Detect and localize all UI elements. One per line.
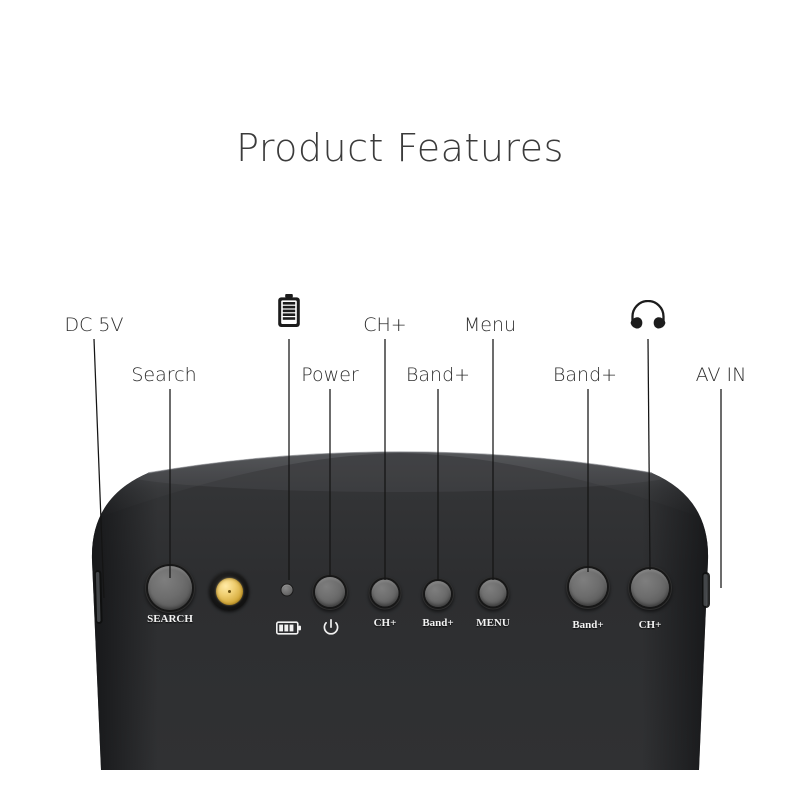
search-button[interactable]	[148, 566, 192, 610]
band-plus-button-1[interactable]	[425, 581, 451, 607]
dc-port	[94, 570, 102, 624]
ch-plus-button-1-caption: CH+	[374, 617, 397, 629]
band-plus-button-1-caption: Band+	[422, 617, 453, 629]
callout-label-menu: Menu	[464, 314, 516, 336]
callout-label-search: Search	[131, 364, 196, 386]
antenna-connector[interactable]	[209, 571, 249, 611]
antenna-gold-pin	[216, 578, 243, 605]
band-plus-button-2[interactable]	[569, 568, 607, 606]
led-indicator	[282, 585, 293, 596]
band-plus-button-2-caption: Band+	[572, 619, 603, 631]
callout-label-dc-5v: DC 5V	[64, 314, 123, 336]
callout-label-ch-plus-1: CH+	[363, 314, 406, 336]
ch-plus-button-2[interactable]	[631, 569, 669, 607]
av-in-port	[702, 572, 710, 608]
device-shell	[88, 448, 712, 772]
ch-plus-button-1[interactable]	[372, 580, 399, 607]
callout-label-power: Power	[301, 364, 358, 386]
callout-label-band-plus-2: Band+	[553, 364, 617, 386]
menu-button[interactable]	[480, 580, 507, 607]
power-print-icon	[322, 619, 340, 638]
power-button[interactable]	[315, 577, 345, 607]
product-features-figure: SEARCHCH+Band+MENUBand+CH+ DC 5VSearch	[0, 0, 800, 800]
callout-label-av-in: AV IN	[696, 364, 747, 386]
headphone-icon	[627, 300, 669, 330]
search-button-caption: SEARCH	[147, 613, 193, 625]
battery-print-icon	[276, 621, 302, 635]
page-title: Product Features	[0, 126, 800, 170]
battery-icon	[276, 294, 302, 328]
callout-label-band-plus-1: Band+	[406, 364, 470, 386]
device-illustration	[0, 0, 800, 800]
menu-button-caption: MENU	[476, 617, 510, 629]
ch-plus-button-2-caption: CH+	[639, 619, 662, 631]
